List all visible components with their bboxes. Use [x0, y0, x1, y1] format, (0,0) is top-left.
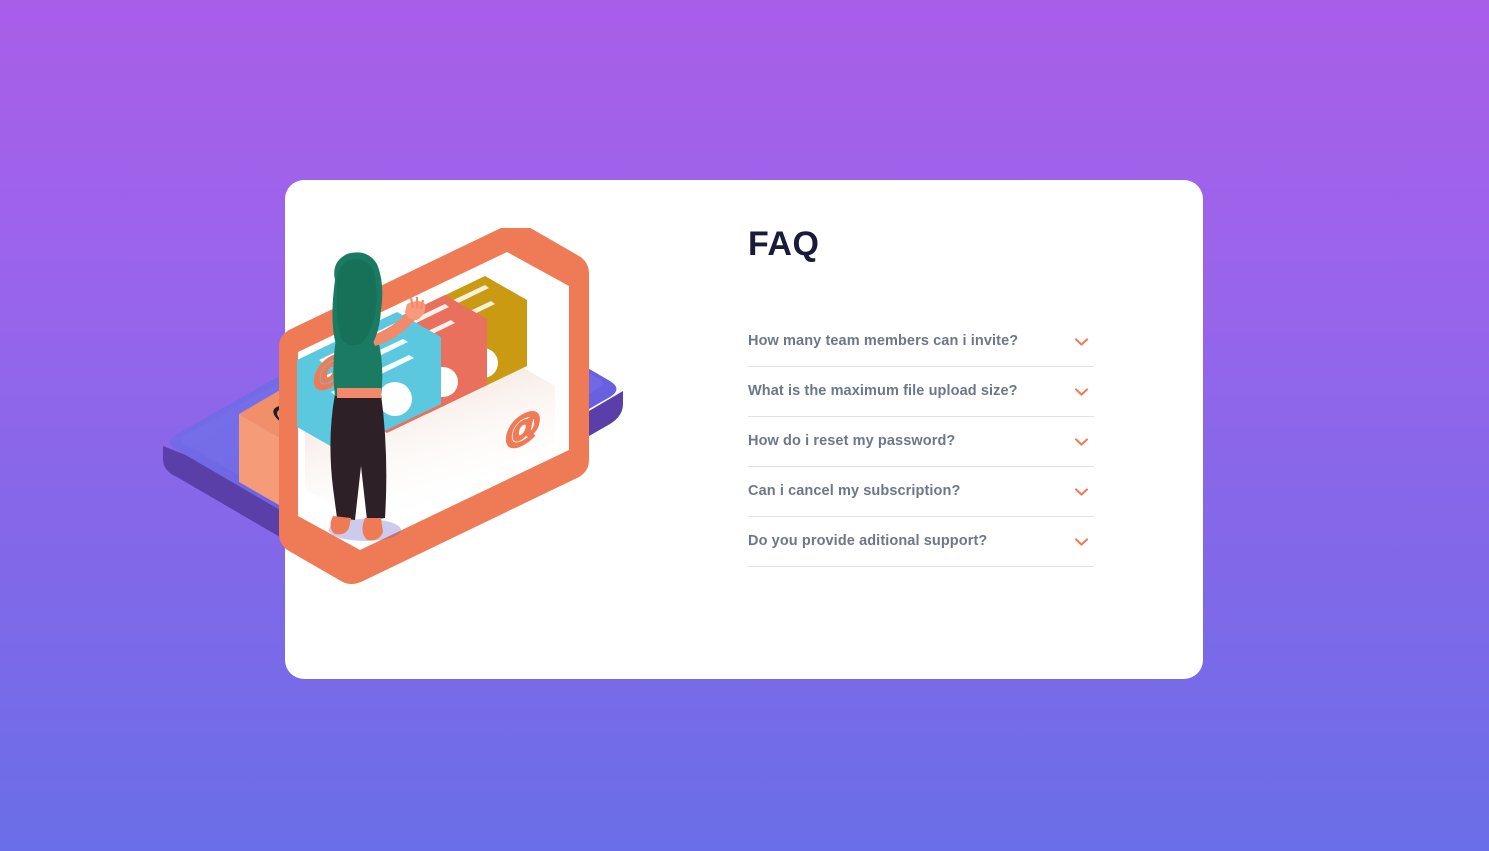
- faq-item[interactable]: How many team members can i invite?: [748, 317, 1094, 367]
- faq-accordion-list: How many team members can i invite? What…: [748, 317, 1094, 567]
- chevron-down-icon[interactable]: [1072, 383, 1090, 401]
- faq-panel: FAQ How many team members can i invite? …: [748, 226, 1094, 567]
- chevron-down-icon[interactable]: [1072, 483, 1090, 501]
- faq-question-label: Do you provide aditional support?: [748, 533, 1072, 551]
- faq-question-label: How many team members can i invite?: [748, 333, 1072, 351]
- faq-item[interactable]: How do i reset my password?: [748, 417, 1094, 467]
- chevron-down-icon[interactable]: [1072, 433, 1090, 451]
- faq-item[interactable]: Do you provide aditional support?: [748, 517, 1094, 567]
- chevron-down-icon[interactable]: [1072, 333, 1090, 351]
- faq-question-label: How do i reset my password?: [748, 433, 1072, 451]
- faq-item[interactable]: What is the maximum file upload size?: [748, 367, 1094, 417]
- page-title: FAQ: [748, 226, 1094, 263]
- faq-question-label: What is the maximum file upload size?: [748, 383, 1072, 401]
- chevron-down-icon[interactable]: [1072, 533, 1090, 551]
- faq-item[interactable]: Can i cancel my subscription?: [748, 467, 1094, 517]
- faq-question-label: Can i cancel my subscription?: [748, 483, 1072, 501]
